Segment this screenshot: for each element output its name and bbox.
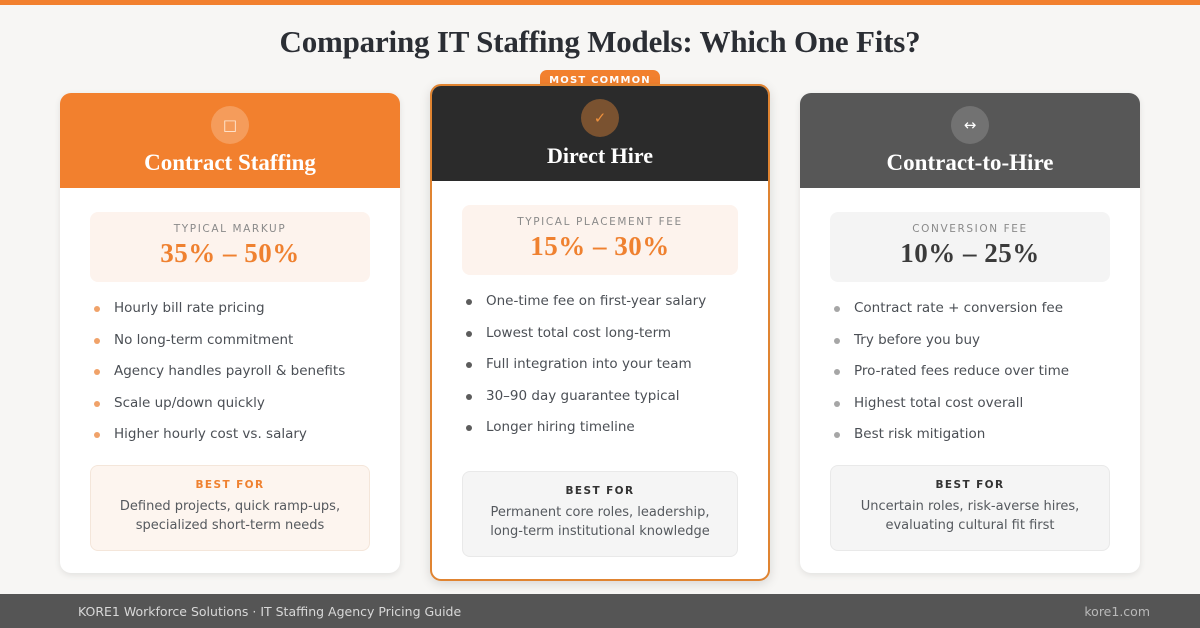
metric-box: TYPICAL PLACEMENT FEE 15% – 30% xyxy=(462,205,738,275)
missing-glyph-icon: □ xyxy=(211,106,249,144)
list-item: Full integration into your team xyxy=(466,358,742,372)
metric-box: TYPICAL MARKUP 35% – 50% xyxy=(90,212,370,282)
bullet-dot-icon xyxy=(94,338,100,344)
bullet-dot-icon xyxy=(834,401,840,407)
list-item: Higher hourly cost vs. salary xyxy=(94,428,374,442)
metric-label: TYPICAL MARKUP xyxy=(96,223,364,235)
card-header: □ Contract Staffing xyxy=(60,93,400,188)
check-icon: ✓ xyxy=(581,99,619,137)
list-item: 30–90 day guarantee typical xyxy=(466,390,742,404)
list-item: Contract rate + conversion fee xyxy=(834,302,1114,316)
list-item-label: 30–90 day guarantee typical xyxy=(486,388,680,404)
best-for-label: BEST FOR xyxy=(101,479,359,491)
card-header: ✓ Direct Hire xyxy=(432,86,768,181)
card-direct-hire[interactable]: ✓ Direct Hire TYPICAL PLACEMENT FEE 15% … xyxy=(430,84,770,581)
bullet-dot-icon xyxy=(466,331,472,337)
bullet-dot-icon xyxy=(834,369,840,375)
metric-box: CONVERSION FEE 10% – 25% xyxy=(830,212,1110,282)
card-title: Direct Hire xyxy=(432,143,768,169)
bullet-dot-icon xyxy=(94,432,100,438)
card-header: ↔ Contract-to-Hire xyxy=(800,93,1140,188)
bullet-dot-icon xyxy=(834,432,840,438)
bullet-dot-icon xyxy=(466,425,472,431)
list-item-label: Hourly bill rate pricing xyxy=(114,300,265,316)
bullet-dot-icon xyxy=(94,306,100,312)
card-contract-to-hire[interactable]: ↔ Contract-to-Hire CONVERSION FEE 10% – … xyxy=(800,93,1140,573)
left-right-arrow-icon: ↔ xyxy=(951,106,989,144)
bullet-dot-icon xyxy=(94,369,100,375)
best-for-box: BEST FOR Defined projects, quick ramp-up… xyxy=(90,465,370,551)
list-item-label: Highest total cost overall xyxy=(854,395,1023,411)
list-item-label: Lowest total cost long-term xyxy=(486,325,671,341)
footer-website: kore1.com xyxy=(1084,604,1150,619)
list-item: Agency handles payroll & benefits xyxy=(94,365,374,379)
bullet-dot-icon xyxy=(466,362,472,368)
list-item-label: Scale up/down quickly xyxy=(114,395,265,411)
best-for-text: Defined projects, quick ramp-ups, specia… xyxy=(101,498,359,536)
list-item: Scale up/down quickly xyxy=(94,397,374,411)
best-for-text: Uncertain roles, risk-averse hires, eval… xyxy=(841,498,1099,536)
list-item-label: Longer hiring timeline xyxy=(486,419,635,435)
best-for-text: Permanent core roles, leadership, long-t… xyxy=(473,504,727,542)
footer-attribution: KORE1 Workforce Solutions · IT Staffing … xyxy=(78,604,461,619)
card-title: Contract-to-Hire xyxy=(800,150,1140,176)
metric-value: 10% – 25% xyxy=(836,238,1104,269)
card-title: Contract Staffing xyxy=(60,150,400,176)
list-item-label: Contract rate + conversion fee xyxy=(854,300,1063,316)
bullet-dot-icon xyxy=(466,394,472,400)
list-item-label: No long-term commitment xyxy=(114,332,293,348)
bullet-dot-icon xyxy=(834,338,840,344)
list-item-label: Pro-rated fees reduce over time xyxy=(854,363,1069,379)
list-item: Try before you buy xyxy=(834,334,1114,348)
list-item-label: Try before you buy xyxy=(854,332,980,348)
comparison-cards: □ Contract Staffing TYPICAL MARKUP 35% –… xyxy=(0,0,1200,594)
bullet-dot-icon xyxy=(466,299,472,305)
best-for-box: BEST FOR Uncertain roles, risk-averse hi… xyxy=(830,465,1110,551)
feature-list: One-time fee on first-year salary Lowest… xyxy=(432,295,768,435)
list-item: Highest total cost overall xyxy=(834,397,1114,411)
metric-label: TYPICAL PLACEMENT FEE xyxy=(468,216,732,228)
list-item-label: Higher hourly cost vs. salary xyxy=(114,426,307,442)
card-contract-staffing[interactable]: □ Contract Staffing TYPICAL MARKUP 35% –… xyxy=(60,93,400,573)
metric-value: 15% – 30% xyxy=(468,231,732,262)
list-item-label: Best risk mitigation xyxy=(854,426,985,442)
list-item-label: One-time fee on first-year salary xyxy=(486,293,706,309)
metric-label: CONVERSION FEE xyxy=(836,223,1104,235)
bullet-dot-icon xyxy=(94,401,100,407)
list-item: One-time fee on first-year salary xyxy=(466,295,742,309)
feature-list: Contract rate + conversion fee Try befor… xyxy=(800,302,1140,442)
list-item-label: Full integration into your team xyxy=(486,356,692,372)
list-item: No long-term commitment xyxy=(94,334,374,348)
best-for-label: BEST FOR xyxy=(473,485,727,497)
best-for-box: BEST FOR Permanent core roles, leadershi… xyxy=(462,471,738,557)
list-item: Hourly bill rate pricing xyxy=(94,302,374,316)
best-for-label: BEST FOR xyxy=(841,479,1099,491)
feature-list: Hourly bill rate pricing No long-term co… xyxy=(60,302,400,442)
list-item-label: Agency handles payroll & benefits xyxy=(114,363,345,379)
list-item: Best risk mitigation xyxy=(834,428,1114,442)
list-item: Lowest total cost long-term xyxy=(466,327,742,341)
list-item: Longer hiring timeline xyxy=(466,421,742,435)
bullet-dot-icon xyxy=(834,306,840,312)
metric-value: 35% – 50% xyxy=(96,238,364,269)
footer-bar: KORE1 Workforce Solutions · IT Staffing … xyxy=(0,594,1200,628)
list-item: Pro-rated fees reduce over time xyxy=(834,365,1114,379)
